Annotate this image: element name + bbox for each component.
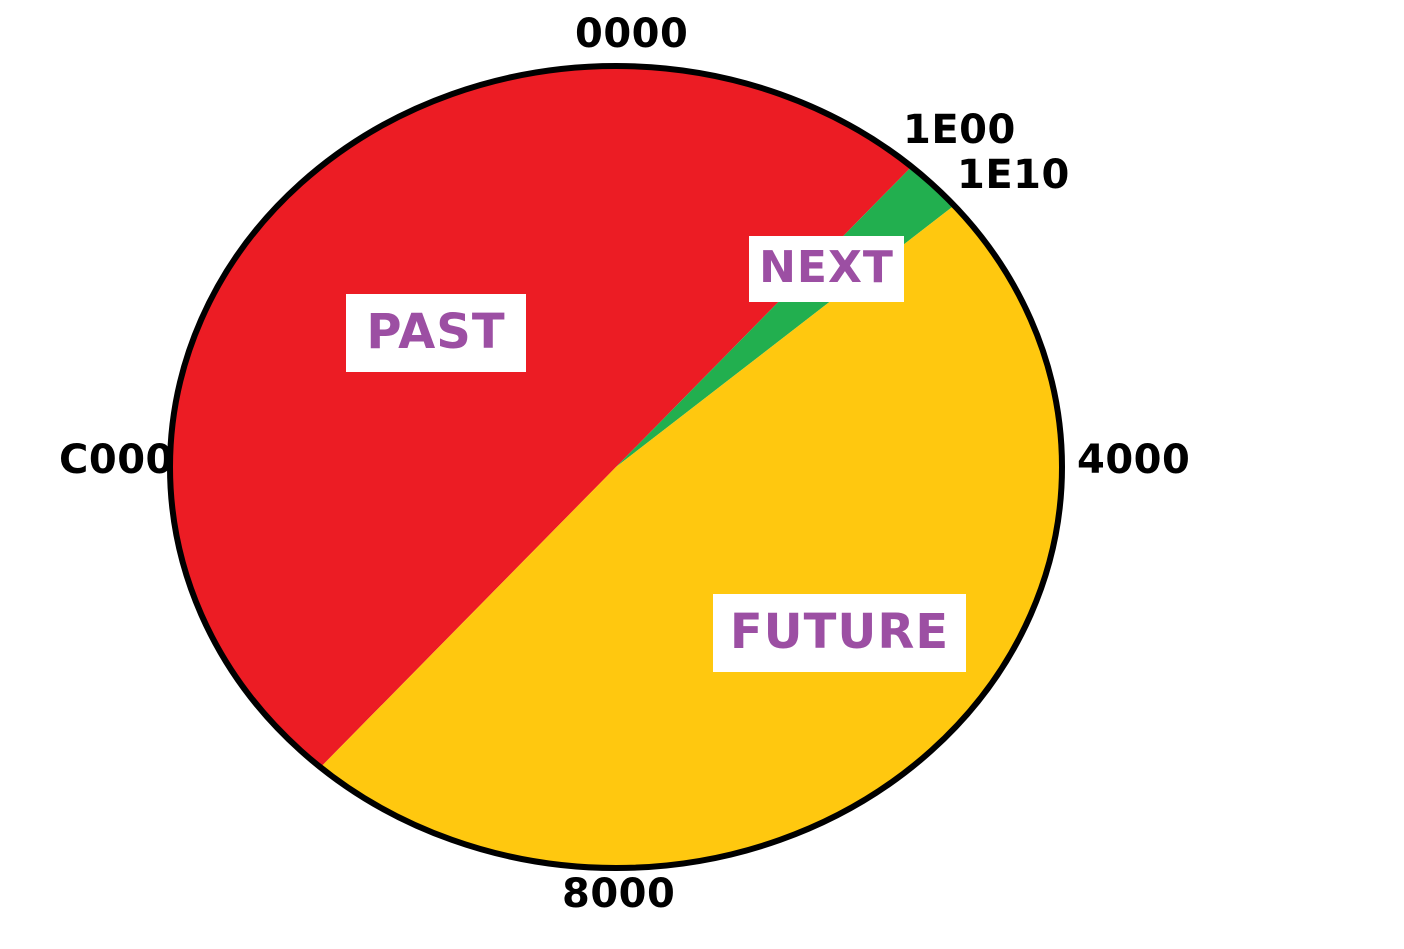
tick-label-4000: 4000 (1077, 440, 1190, 480)
region-label-next: NEXT (749, 236, 904, 302)
diagram-canvas: 0000 1E00 1E10 4000 8000 C000 PAST NEXT … (0, 0, 1404, 949)
pie-chart-svg (0, 0, 1404, 949)
tick-label-8000: 8000 (562, 874, 675, 914)
tick-label-c000: C000 (59, 440, 174, 480)
region-label-past: PAST (346, 294, 526, 372)
pie-slices-group (170, 66, 1062, 868)
tick-label-1e00: 1E00 (903, 110, 1016, 150)
tick-label-1e10: 1E10 (957, 155, 1070, 195)
region-label-future: FUTURE (713, 594, 966, 672)
tick-label-0000: 0000 (575, 14, 688, 54)
